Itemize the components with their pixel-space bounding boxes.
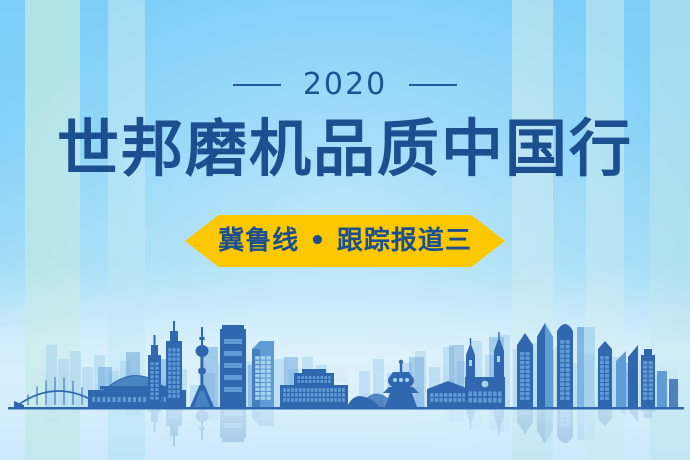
- skyline-left-illustration: [8, 307, 353, 412]
- subtitle-ribbon: 冀鲁线 • 跟踪报道三: [185, 215, 505, 267]
- year-label: 2020: [303, 70, 387, 100]
- skyline-right-illustration: [339, 307, 684, 412]
- year-row: 2020: [0, 70, 690, 100]
- page-title: 世邦磨机品质中国行: [0, 116, 690, 183]
- rule-left-icon: [233, 84, 281, 86]
- promo-banner: 2020 世邦磨机品质中国行 冀鲁线 • 跟踪报道三: [0, 0, 690, 460]
- rule-right-icon: [409, 84, 457, 86]
- ribbon-label: 冀鲁线 • 跟踪报道三: [218, 228, 472, 254]
- ribbon-shape: 冀鲁线 • 跟踪报道三: [185, 215, 505, 267]
